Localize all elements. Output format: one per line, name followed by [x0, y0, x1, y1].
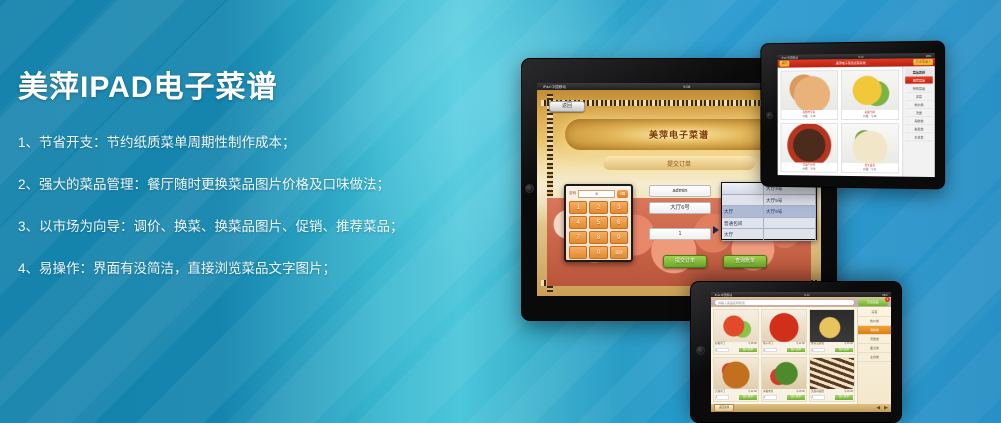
table-cell-area-2[interactable]: 大厅 — [722, 206, 764, 218]
status-time: 9:10 — [859, 54, 864, 58]
cart-button[interactable]: 已点菜品 0 — [914, 59, 933, 65]
sidebar-item-stirfry[interactable]: 热炒类 — [858, 317, 891, 326]
dish-qty-input[interactable]: 1 — [763, 395, 777, 400]
dish-name: 蟹黄豆腐煲 — [811, 342, 824, 347]
sidebar-item-cold[interactable]: 凉菜 — [905, 93, 933, 101]
menu-body: 彩椒鸡丁￥38.00 1加入菜单 辣子鸡丁￥42.00 1加入菜单 — [711, 307, 891, 404]
menu-body: 香酥炸带鱼 价格：￥38 彩椒牛柳 价格：￥48 — [778, 66, 935, 177]
keypad-key-5[interactable]: 5 — [589, 216, 607, 229]
brand-banner-label: 美萍电子菜谱 — [649, 128, 709, 141]
numeric-keypad[interactable]: 密码 6 ⌫ 1 2 3 4 5 6 7 8 9 · — [564, 184, 633, 262]
dish-caption: 宫保鸡丁￥32.00 1加入菜单 — [714, 389, 758, 401]
next-page-icon[interactable]: ▶ — [884, 405, 888, 411]
table-cell-no-3[interactable] — [764, 218, 816, 230]
back-to-menu-button[interactable]: 返回菜单 — [714, 404, 734, 412]
keypad-key-3[interactable]: 3 — [610, 201, 628, 214]
dish-image — [714, 310, 758, 342]
sidebar-header: 菜品类别 — [905, 68, 933, 76]
dish-image — [762, 310, 806, 342]
dish-name: 宫保鸡丁 — [715, 390, 725, 395]
dish-name: 彩椒鸡丁 — [715, 342, 725, 347]
dish-price: ￥26.00 — [844, 390, 853, 395]
people-count-field[interactable]: 1 — [649, 228, 711, 240]
dish-image — [714, 358, 758, 390]
dish-card[interactable]: 黑椒牛仔骨 价格：￥68 — [781, 123, 838, 173]
dish-price: 价格：￥32 — [842, 168, 899, 173]
dish-caption: 黑森林蛋糕￥26.00 1加入菜单 — [810, 389, 854, 401]
dish-image — [842, 71, 899, 110]
dish-card[interactable]: 蟹黄豆腐煲￥36.00 1加入菜单 — [809, 309, 855, 355]
search-input[interactable]: 请输入菜品名称搜索 — [714, 299, 855, 306]
home-button-icon[interactable] — [696, 346, 705, 355]
add-to-order-button[interactable]: 加入菜单 — [835, 395, 853, 400]
dish-qty-input[interactable]: 1 — [715, 395, 729, 400]
sidebar-item-staple[interactable]: 主食类 — [858, 353, 891, 362]
tablet-device-bottom-right: iPad 中国移动 9:12 96% 请输入菜品名称搜索 已点菜品 3 彩椒鸡丁… — [690, 281, 902, 423]
table-cell-area-1[interactable] — [722, 195, 764, 207]
search-toolbar: 请输入菜品名称搜索 已点菜品 3 — [711, 297, 891, 307]
username-field[interactable]: admin — [649, 185, 711, 197]
dish-caption: 彩椒鸡丁￥38.00 1加入菜单 — [714, 342, 758, 354]
category-sidebar: 凉菜 热炒类 海鲜类 汤羹类 面点类 主食类 — [857, 307, 891, 404]
cart-badge: 3 — [885, 297, 890, 302]
sidebar-item-seafood[interactable]: 海鲜类 — [858, 326, 891, 335]
add-to-order-button[interactable]: 加入菜单 — [739, 348, 757, 353]
dish-price: ￥32.00 — [748, 390, 757, 395]
dish-image — [842, 124, 899, 163]
dish-caption: 蟹黄豆腐煲￥36.00 1加入菜单 — [810, 342, 854, 354]
dish-caption: 养生菌汤 价格：￥32 — [842, 163, 899, 173]
dish-card[interactable]: 辣子鸡丁￥42.00 1加入菜单 — [761, 309, 807, 355]
keypad-key-2[interactable]: 2 — [589, 201, 607, 214]
dish-qty-input[interactable]: 1 — [715, 348, 729, 353]
dish-card[interactable]: 香酥炸带鱼 价格：￥38 — [781, 70, 838, 120]
status-time: 9:08 — [683, 84, 690, 89]
sidebar-item-soup[interactable]: 汤羹类 — [858, 335, 891, 344]
submit-order-button[interactable]: 提交订单 — [663, 255, 707, 268]
dish-image — [782, 124, 837, 163]
tablet-device-top-right: iPad 中国移动 9:10 98% 返回 美萍电子菜谱点菜系统 已点菜品 0 … — [760, 41, 945, 190]
prev-page-icon[interactable]: ◀ — [876, 405, 880, 411]
dish-caption: 辣子鸡丁￥42.00 1加入菜单 — [762, 342, 806, 354]
dish-qty-input[interactable]: 1 — [763, 348, 777, 353]
keypad-key-9[interactable]: 9 — [610, 231, 628, 244]
sidebar-item-cold[interactable]: 凉菜 — [858, 308, 891, 317]
dish-price: ￥36.00 — [844, 342, 853, 347]
feature-bullet-1: 1、节省开支：节约纸质菜单周期性制作成本； — [18, 134, 488, 153]
table-cell-no-2[interactable]: 大厅6号 — [764, 206, 816, 218]
keypad-key-8[interactable]: 8 — [589, 231, 607, 244]
marketing-text-column: 美萍IPAD电子菜谱 1、节省开支：节约纸质菜单周期性制作成本； 2、强大的菜品… — [18, 62, 488, 302]
table-cell-area-4[interactable]: 大厅 — [722, 229, 764, 241]
query-bill-button[interactable]: 查询账单 — [723, 255, 767, 268]
dish-qty-input[interactable]: 1 — [811, 395, 825, 400]
sub-banner: 提交订单 — [603, 156, 755, 170]
status-carrier: iPad 中国移动 — [781, 55, 798, 59]
sidebar-item-stirfry[interactable]: 热炒类 — [905, 101, 933, 109]
add-to-order-button[interactable]: 加入菜单 — [787, 348, 805, 353]
status-carrier: iPad 中国移动 — [715, 293, 732, 297]
table-cell-area-0[interactable] — [722, 183, 764, 195]
dish-card[interactable]: 彩椒鸡丁￥38.00 1加入菜单 — [713, 309, 759, 355]
dish-card[interactable]: 养生菌汤 价格：￥32 — [841, 123, 900, 174]
tablet-tr-screen: iPad 中国移动 9:10 98% 返回 美萍电子菜谱点菜系统 已点菜品 0 … — [778, 53, 935, 177]
table-field[interactable]: 大厅6号 — [649, 202, 711, 214]
dish-caption: 香酥炸带鱼 价格：￥38 — [782, 110, 837, 119]
feature-bullet-4: 4、易操作：界面有没简洁，直接浏览菜品文字图片； — [18, 260, 488, 279]
promo-banner: 美萍IPAD电子菜谱 1、节省开支：节约纸质菜单周期性制作成本； 2、强大的菜品… — [0, 0, 1001, 423]
dish-name: 辣子鸡丁 — [763, 342, 773, 347]
add-to-order-button[interactable]: 加入菜单 — [739, 395, 757, 400]
table-selection-panel[interactable]: 大厅4号 大厅5号 大厅 大厅6号 普通包间 大厅 — [721, 182, 817, 240]
dish-qty-input[interactable]: 1 — [811, 348, 825, 353]
pointer-arrow-icon — [713, 226, 719, 234]
cart-button[interactable]: 已点菜品 3 — [858, 299, 888, 306]
dish-caption: 黑椒牛仔骨 价格：￥68 — [782, 162, 837, 172]
app-header-title: 美萍电子菜谱点菜系统 — [832, 61, 870, 65]
sidebar-item-seafood[interactable]: 海鲜类 — [905, 117, 933, 125]
dish-card[interactable]: 青椒肉丝￥28.00 1加入菜单 — [761, 357, 807, 403]
back-button[interactable]: 返回 — [780, 61, 790, 67]
keypad-key-4[interactable]: 4 — [569, 216, 587, 229]
dish-card[interactable]: 宫保鸡丁￥32.00 1加入菜单 — [713, 357, 759, 403]
keypad-key-6[interactable]: 6 — [610, 216, 628, 229]
sidebar-item-pastry[interactable]: 面点类 — [858, 344, 891, 353]
tablet-br-screen: iPad 中国移动 9:12 96% 请输入菜品名称搜索 已点菜品 3 彩椒鸡丁… — [711, 292, 891, 412]
dish-grid: 彩椒鸡丁￥38.00 1加入菜单 辣子鸡丁￥42.00 1加入菜单 — [711, 307, 857, 404]
status-time: 9:12 — [805, 293, 810, 297]
status-carrier: iPad 中国移动 — [543, 84, 566, 90]
feature-bullet-3: 3、以市场为向导：调价、换菜、换菜品图片、促销、推荐菜品； — [18, 218, 488, 237]
dish-caption: 彩椒牛柳 价格：￥48 — [842, 110, 899, 119]
cart-button-label: 已点菜品 — [867, 300, 878, 304]
page-title: 美萍IPAD电子菜谱 — [18, 62, 488, 106]
back-button[interactable]: 返回 — [549, 101, 585, 112]
dish-name: 黑森林蛋糕 — [811, 390, 824, 395]
footer-toolbar: 返回菜单 ◀ ▶ — [711, 404, 891, 412]
dish-image — [782, 71, 837, 110]
dish-price: ￥38.00 — [748, 342, 757, 347]
add-to-order-button[interactable]: 加入菜单 — [787, 395, 805, 400]
dish-card[interactable]: 彩椒牛柳 价格：￥48 — [841, 70, 900, 120]
keypad-label: 密码 — [569, 191, 576, 196]
dish-price: 价格：￥68 — [782, 167, 837, 172]
dish-card[interactable]: 黑森林蛋糕￥26.00 1加入菜单 — [809, 357, 855, 403]
keypad-value[interactable]: 6 — [578, 190, 615, 198]
dish-price: ￥28.00 — [796, 390, 805, 395]
sub-banner-label: 提交订单 — [667, 159, 691, 168]
keypad-key-dot[interactable]: · — [569, 246, 587, 259]
status-battery: 96% — [882, 293, 888, 297]
dish-caption: 青椒肉丝￥28.00 1加入菜单 — [762, 389, 806, 401]
backspace-icon[interactable]: ⌫ — [617, 190, 628, 198]
table-cell-no-1[interactable]: 大厅5号 — [764, 195, 816, 207]
sidebar-item-soup[interactable]: 汤羹 — [905, 109, 933, 117]
keypad-grid: 1 2 3 4 5 6 7 8 9 · 0 清除 — [569, 201, 628, 259]
sidebar-item-recommended[interactable]: 推荐菜品 — [905, 76, 933, 84]
brand-banner: 美萍电子菜谱 — [565, 119, 793, 150]
dish-price: 价格：￥48 — [842, 115, 899, 120]
table-cell-no-4[interactable] — [764, 229, 816, 241]
dish-grid: 香酥炸带鱼 价格：￥38 彩椒牛柳 价格：￥48 — [778, 66, 902, 176]
dish-image — [810, 358, 854, 390]
home-button-icon[interactable] — [525, 184, 534, 193]
keypad-key-1[interactable]: 1 — [569, 201, 587, 214]
sidebar-item-special[interactable]: 特色菜品 — [905, 84, 933, 92]
dish-price: 价格：￥38 — [782, 115, 837, 119]
sidebar-item-staple[interactable]: 主食类 — [905, 133, 933, 141]
dish-name: 青椒肉丝 — [763, 390, 773, 395]
keypad-key-clear[interactable]: 清除 — [610, 246, 628, 259]
keypad-key-0[interactable]: 0 — [589, 246, 607, 259]
dish-price: ￥42.00 — [796, 342, 805, 347]
dish-image — [762, 358, 806, 390]
dish-image — [810, 310, 854, 342]
category-sidebar: 菜品类别 推荐菜品 特色菜品 凉菜 热炒类 汤羹 海鲜类 素菜类 主食类 — [902, 66, 935, 177]
feature-bullet-2: 2、强大的菜品管理：餐厅随时更换菜品图片价格及口味做法； — [18, 176, 488, 195]
keypad-display: 密码 6 ⌫ — [569, 189, 628, 198]
sidebar-item-vegetable[interactable]: 素菜类 — [905, 125, 933, 133]
add-to-order-button[interactable]: 加入菜单 — [835, 348, 853, 353]
status-battery: 98% — [926, 54, 932, 58]
home-button-icon[interactable] — [766, 112, 773, 119]
keypad-key-7[interactable]: 7 — [569, 231, 587, 244]
table-cell-area-3[interactable]: 普通包间 — [722, 218, 764, 230]
